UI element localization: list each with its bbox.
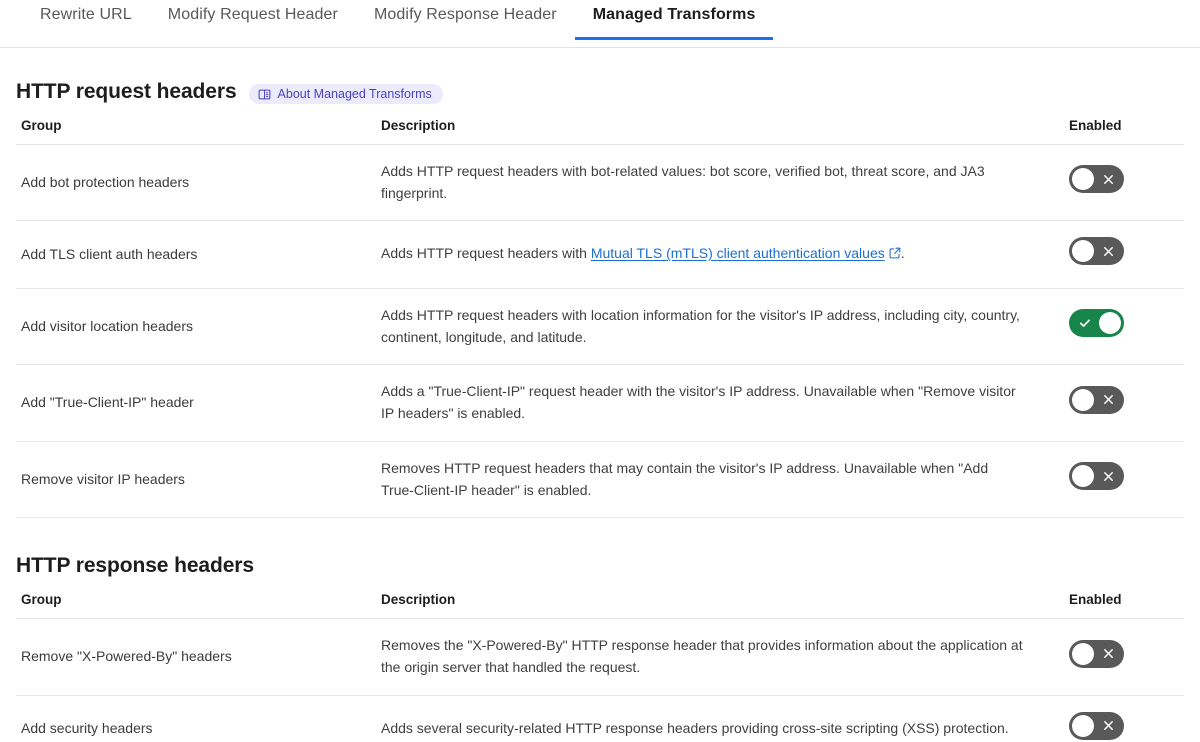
close-icon [1096, 237, 1121, 265]
row-description: Removes HTTP request headers that may co… [376, 441, 1064, 517]
toggle-remove-visitor-ip-headers[interactable] [1069, 462, 1124, 490]
table-row: Add "True-Client-IP" header Adds a "True… [16, 365, 1184, 441]
row-enabled-cell [1064, 221, 1184, 289]
toggle-knob [1072, 465, 1094, 487]
row-group-label: Add bot protection headers [16, 145, 376, 221]
row-enabled-cell [1064, 145, 1184, 221]
row-group-label: Add visitor location headers [16, 289, 376, 365]
check-icon [1072, 309, 1097, 337]
row-enabled-cell [1064, 365, 1184, 441]
about-badge-label: About Managed Transforms [278, 87, 432, 101]
toggle-knob [1072, 389, 1094, 411]
row-description: Adds a "True-Client-IP" request header w… [376, 365, 1064, 441]
transform-rules-tabbar: Rewrite URL Modify Request Header Modify… [0, 0, 1200, 48]
tab-modify-request-header[interactable]: Modify Request Header [150, 0, 356, 40]
column-header-enabled: Enabled [1064, 118, 1184, 145]
column-header-enabled: Enabled [1064, 592, 1184, 619]
page-title: HTTP request headers [16, 80, 237, 104]
table-row: Add bot protection headers Adds HTTP req… [16, 145, 1184, 221]
toggle-knob [1072, 168, 1094, 190]
section-header: HTTP request headers About Managed Trans… [16, 80, 1184, 104]
tab-rewrite-url[interactable]: Rewrite URL [22, 0, 150, 40]
row-description: Adds HTTP request headers with bot-relat… [376, 145, 1064, 221]
table-row: Add visitor location headers Adds HTTP r… [16, 289, 1184, 365]
toggle-add-visitor-location-headers[interactable] [1069, 309, 1124, 337]
http-request-headers-section: HTTP request headers About Managed Trans… [0, 80, 1200, 518]
close-icon [1096, 712, 1121, 740]
toggle-knob [1072, 643, 1094, 665]
book-icon [258, 88, 271, 101]
column-header-group: Group [16, 592, 376, 619]
row-enabled-cell [1064, 289, 1184, 365]
external-link-icon [889, 244, 901, 266]
description-prefix: Adds HTTP request headers with [381, 245, 591, 261]
column-header-description: Description [376, 592, 1064, 619]
row-group-label: Add TLS client auth headers [16, 221, 376, 289]
table-row: Add TLS client auth headers Adds HTTP re… [16, 221, 1184, 289]
close-icon [1096, 165, 1121, 193]
table-header-row: Group Description Enabled [16, 118, 1184, 145]
toggle-knob [1099, 312, 1121, 334]
row-enabled-cell [1064, 441, 1184, 517]
row-group-label: Add security headers [16, 695, 376, 742]
row-description: Adds HTTP request headers with location … [376, 289, 1064, 365]
row-group-label: Remove visitor IP headers [16, 441, 376, 517]
row-description: Adds several security-related HTTP respo… [376, 695, 1064, 742]
tab-modify-response-header[interactable]: Modify Response Header [356, 0, 575, 40]
toggle-add-tls-client-auth-headers[interactable] [1069, 237, 1124, 265]
section-header: HTTP response headers [16, 554, 1184, 578]
row-group-label: Remove "X-Powered-By" headers [16, 619, 376, 695]
close-icon [1096, 462, 1121, 490]
toggle-knob [1072, 715, 1094, 737]
http-response-headers-section: HTTP response headers Group Description … [0, 554, 1200, 742]
toggle-remove-x-powered-by-headers[interactable] [1069, 640, 1124, 668]
description-suffix: . [901, 245, 905, 261]
toggle-add-bot-protection-headers[interactable] [1069, 165, 1124, 193]
about-managed-transforms-link[interactable]: About Managed Transforms [249, 84, 443, 104]
table-row: Remove "X-Powered-By" headers Removes th… [16, 619, 1184, 695]
row-description: Removes the "X-Powered-By" HTTP response… [376, 619, 1064, 695]
table-header-row: Group Description Enabled [16, 592, 1184, 619]
close-icon [1096, 386, 1121, 414]
toggle-knob [1072, 240, 1094, 262]
mtls-docs-link[interactable]: Mutual TLS (mTLS) client authentication … [591, 245, 885, 261]
column-header-group: Group [16, 118, 376, 145]
row-enabled-cell [1064, 695, 1184, 742]
section-title-response: HTTP response headers [16, 554, 254, 578]
row-description: Adds HTTP request headers with Mutual TL… [376, 221, 1064, 289]
row-group-label: Add "True-Client-IP" header [16, 365, 376, 441]
table-row: Remove visitor IP headers Removes HTTP r… [16, 441, 1184, 517]
table-row: Add security headers Adds several securi… [16, 695, 1184, 742]
row-enabled-cell [1064, 619, 1184, 695]
tab-managed-transforms[interactable]: Managed Transforms [575, 0, 774, 40]
http-request-headers-table: Group Description Enabled Add bot protec… [16, 118, 1184, 518]
toggle-add-security-headers[interactable] [1069, 712, 1124, 740]
close-icon [1096, 640, 1121, 668]
column-header-description: Description [376, 118, 1064, 145]
toggle-add-true-client-ip-header[interactable] [1069, 386, 1124, 414]
http-response-headers-table: Group Description Enabled Remove "X-Powe… [16, 592, 1184, 742]
